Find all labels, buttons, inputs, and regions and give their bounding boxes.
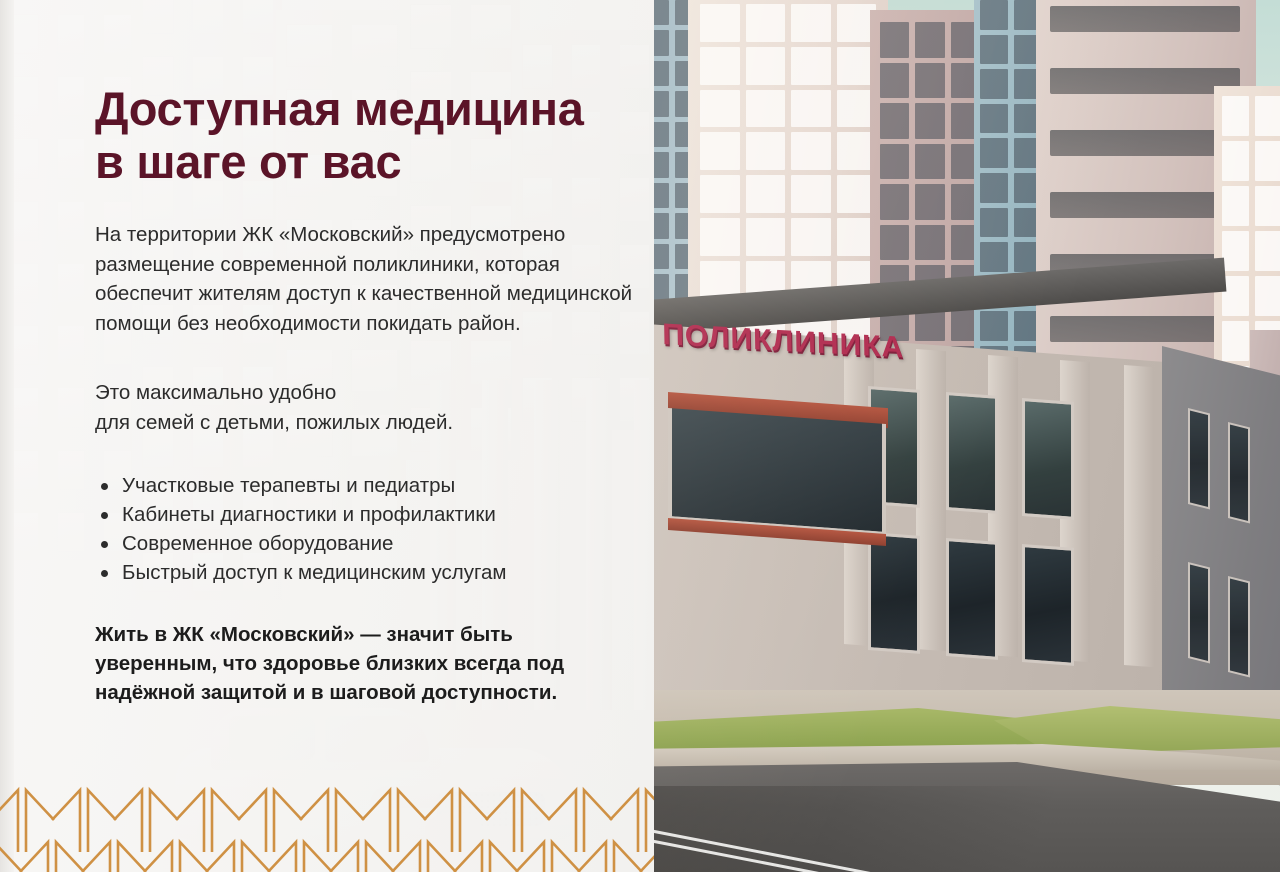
tower-window: [791, 132, 831, 170]
tower-window: [654, 0, 669, 25]
tower-window: [980, 104, 1008, 134]
clinic-window-side: [1228, 422, 1250, 523]
tower-window: [654, 274, 669, 299]
features-list: Участковые терапевты и педиатры Кабинеты…: [95, 472, 640, 588]
clinic-window-lower: [946, 538, 998, 660]
clinic-window-lower: [1022, 544, 1074, 666]
tower-window: [700, 4, 740, 42]
list-item: Быстрый доступ к медицинским услугам: [95, 559, 640, 588]
tower-window: [980, 173, 1008, 203]
tower-window: [700, 175, 740, 213]
tower-window: [880, 144, 909, 180]
tower-window: [700, 132, 740, 170]
tower-window: [1255, 96, 1280, 136]
clinic-render-photo: ONREAL НЕДВИЖИ ПОЛИКЛИНИКА: [654, 0, 1280, 872]
tower-window: [1222, 141, 1249, 181]
list-item: Участковые терапевты и педиатры: [95, 472, 640, 501]
tower-window: [980, 0, 1008, 30]
tower-window: [915, 225, 944, 261]
clinic-pilaster: [916, 349, 946, 651]
balcony-band: [1050, 68, 1240, 94]
clinic-window-side: [1188, 562, 1210, 663]
tower-window: [880, 22, 909, 58]
balcony-band: [1050, 6, 1240, 32]
tower-window: [654, 244, 669, 269]
tower-window: [654, 91, 669, 116]
tower-window: [791, 47, 831, 85]
tower-window: [700, 90, 740, 128]
tower-window: [791, 218, 831, 256]
headline-line-2: в шаге от вас: [95, 135, 635, 188]
tower-window: [654, 30, 669, 55]
tower-window: [1255, 141, 1280, 181]
tower-window: [791, 90, 831, 128]
headline-line-1: Доступная медицина: [95, 82, 584, 135]
tower-window: [654, 122, 669, 147]
tower-window: [700, 218, 740, 256]
closing-statement: Жить в ЖК «Московский» — значит быть уве…: [95, 620, 640, 707]
tower-window: [980, 69, 1008, 99]
entrance-glazing: [668, 408, 886, 536]
tower-window: [654, 183, 669, 208]
tower-window: [1222, 96, 1249, 136]
tower-window: [746, 47, 786, 85]
tower-window: [654, 152, 669, 177]
clinic-window-upper: [946, 392, 998, 514]
clinic-sign-text: ПОЛИКЛИНИКА: [662, 318, 904, 365]
tower-window: [746, 218, 786, 256]
tower-window: [746, 4, 786, 42]
tower-window: [980, 35, 1008, 65]
tower-window: [980, 242, 1008, 272]
list-item: Современное оборудование: [95, 530, 640, 559]
tower-window: [746, 90, 786, 128]
tower-window: [1222, 186, 1249, 226]
tower-window: [915, 103, 944, 139]
tower-window: [654, 61, 669, 86]
tower-window: [1255, 231, 1280, 271]
list-item: Кабинеты диагностики и профилактики: [95, 501, 640, 530]
page-title: Доступная медицина в шаге от вас: [95, 82, 635, 188]
tower-window: [915, 144, 944, 180]
left-text-panel: Доступная медицина в шаге от вас На терр…: [0, 0, 654, 872]
tower-window: [654, 213, 669, 238]
tower-window: [980, 208, 1008, 238]
balcony-band: [1050, 130, 1240, 156]
tower-window: [980, 138, 1008, 168]
tower-window: [1222, 231, 1249, 271]
tower-window: [915, 22, 944, 58]
clinic-window-lower: [868, 532, 920, 654]
convenience-paragraph: Это максимально удобно для семей с детьм…: [95, 378, 640, 437]
clinic-window-upper: [1022, 398, 1074, 520]
tower-window: [746, 132, 786, 170]
tower-window: [915, 63, 944, 99]
tower-window: [915, 184, 944, 220]
clinic-window-side: [1228, 576, 1250, 677]
tower-window: [791, 4, 831, 42]
tower-window: [700, 47, 740, 85]
promo-slide: Доступная медицина в шаге от вас На терр…: [0, 0, 1280, 872]
tower-window: [1255, 186, 1280, 226]
tower-window: [880, 103, 909, 139]
panel-left-edge: [0, 0, 14, 872]
tower-window: [880, 184, 909, 220]
clinic-pilaster: [1124, 365, 1154, 667]
intro-paragraph: На территории ЖК «Московский» предусмотр…: [95, 220, 640, 338]
tower-window: [880, 63, 909, 99]
tower-window: [880, 225, 909, 261]
tower-window: [746, 175, 786, 213]
balcony-band: [1050, 192, 1240, 218]
tower-window: [791, 175, 831, 213]
clinic-window-side: [1188, 408, 1210, 509]
left-panel-content: Доступная медицина в шаге от вас На терр…: [95, 0, 635, 872]
